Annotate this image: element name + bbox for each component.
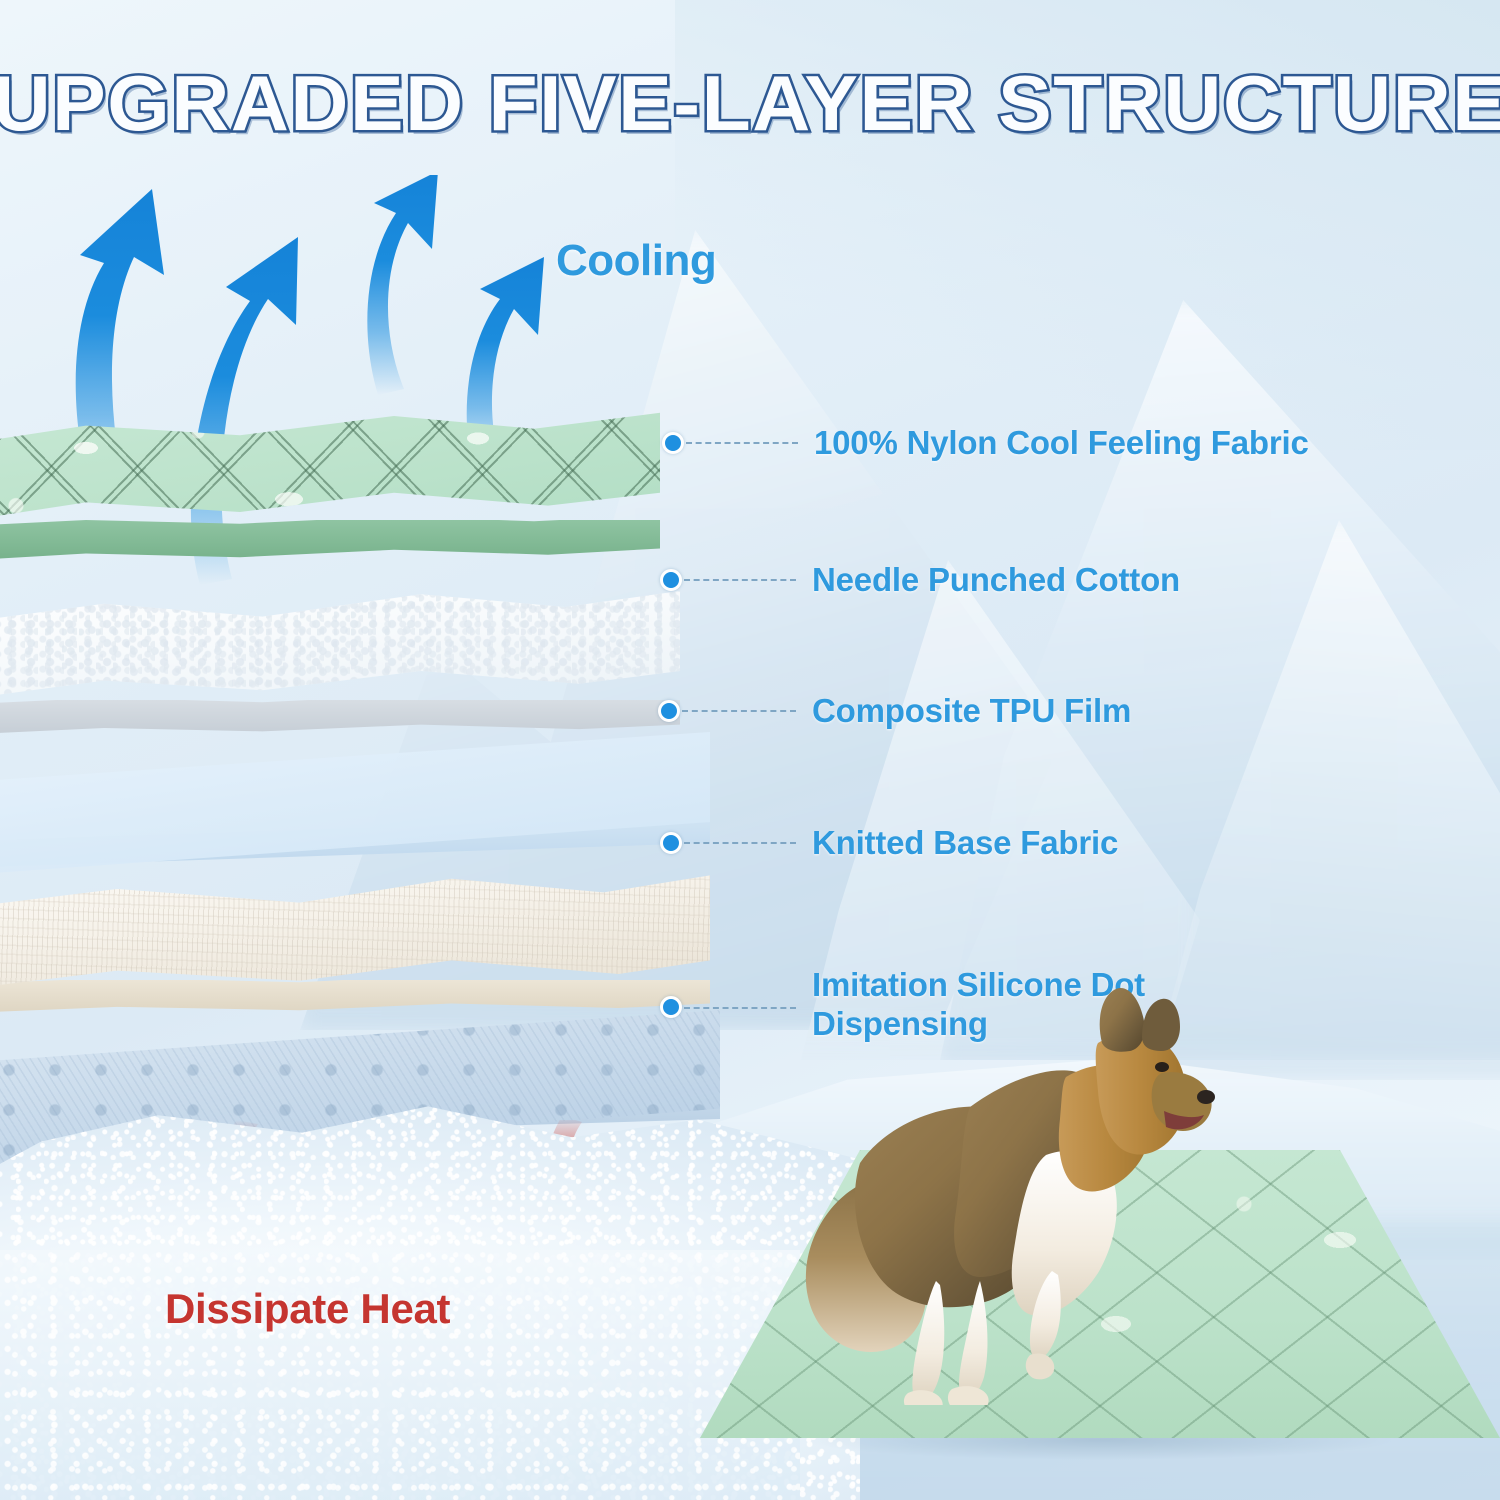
layer-4-label: Knitted Base Fabric [812,824,1118,863]
connector-dot-icon [658,700,680,722]
dog-nose [1197,1090,1215,1104]
exploded-layer-stack [0,370,730,1200]
layer-3-label: Composite TPU Film [812,692,1131,731]
connector-dot-icon [662,432,684,454]
dog-rear-paw-2 [948,1386,989,1405]
dog-ear-right [1142,999,1180,1051]
callout-layer-3[interactable]: Composite TPU Film [658,692,1131,731]
infographic-canvas: UPGRADED FIVE-LAYER STRUCTURE [0,0,1500,1500]
connector-line-icon [684,579,796,581]
connector-dot-icon [660,569,682,591]
connector-line-icon [684,842,796,844]
dog-rear-paw-1 [904,1390,943,1405]
layer-3-composite-tpu-film [0,732,710,882]
dog-photo [790,985,1220,1405]
layer-1-edge [0,520,660,582]
layer-2-label: Needle Punched Cotton [812,561,1180,600]
connector-line-icon [682,710,796,712]
dog-front-paw [1026,1353,1055,1379]
connector-dot-icon [660,832,682,854]
dog-ear-left [1100,988,1145,1052]
connector-line-icon [684,1007,796,1009]
dissipate-heat-label: Dissipate Heat [165,1285,450,1333]
page-title: UPGRADED FIVE-LAYER STRUCTURE [0,58,1500,149]
cooling-arrow-3-icon [367,175,438,395]
connector-dot-icon [660,996,682,1018]
callout-layer-2[interactable]: Needle Punched Cotton [660,561,1180,600]
connector-line-icon [686,442,798,444]
callout-layer-4[interactable]: Knitted Base Fabric [660,824,1118,863]
layer-1-label: 100% Nylon Cool Feeling Fabric [814,424,1309,463]
dog-eye [1155,1062,1169,1072]
callout-layer-1[interactable]: 100% Nylon Cool Feeling Fabric [662,424,1309,463]
cooling-label: Cooling [556,236,716,286]
